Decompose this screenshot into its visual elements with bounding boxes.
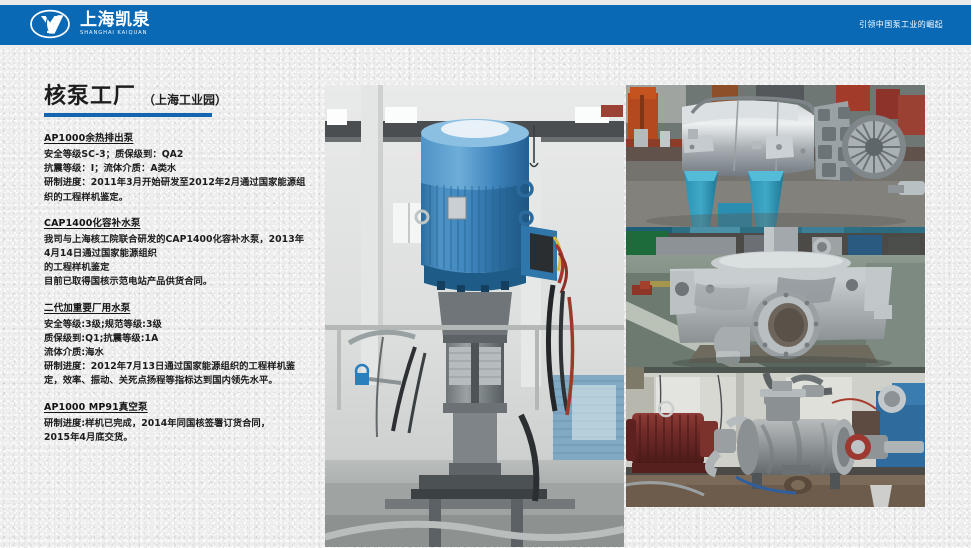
section-line: 流体介质:海水	[44, 346, 312, 360]
section-heading: AP1000余热排出泵	[44, 131, 312, 146]
section-line: 2015年4月底交货。	[44, 431, 312, 445]
section-heading: CAP1400化容补水泵	[44, 216, 312, 231]
section-line: 织的工程样机鉴定。	[44, 191, 312, 205]
header-slogan: 引领中国泵工业的崛起	[859, 19, 943, 30]
section-ap1000-rhr: AP1000余热排出泵 安全等级SC-3；质保级到：QA2 抗震等级：Ⅰ；流体介…	[44, 131, 312, 205]
page-title: 核泵工厂 （上海工业园）	[44, 85, 304, 117]
cast-pump-volute-photo	[626, 227, 925, 367]
section-cap1400-cvcs: CAP1400化容补水泵 我司与上海核工院联合研发的CAP1400化容补水泵，2…	[44, 216, 312, 290]
page-title-sub: （上海工业园）	[143, 91, 227, 109]
slide-content: 核泵工厂 （上海工业园） AP1000余热排出泵 安全等级SC-3；质保级到：Q…	[0, 45, 971, 548]
logo-text-cn: 上海凯泉	[80, 11, 150, 29]
section-line: 研制进度：2011年3月开始研发至2012年2月通过国家能源组	[44, 176, 312, 190]
right-photo-column	[626, 85, 925, 507]
pump-test-bench-photo	[626, 367, 925, 507]
section-heading: 二代加重要厂用水泵	[44, 301, 312, 316]
section-line: 研制进度:样机已完成，2014年同国核签署订货合同，	[44, 417, 312, 431]
section-line: 目前已取得国核示范电站产品供货合同。	[44, 275, 312, 289]
spec-sections: AP1000余热排出泵 安全等级SC-3；质保级到：QA2 抗震等级：Ⅰ；流体介…	[44, 131, 312, 456]
section-gen2-service-water: 二代加重要厂用水泵 安全等级:3级;规范等级:3级 质保级到:Q1;抗震等级:1…	[44, 301, 312, 389]
section-line: 研制进度：2012年7月13日通过国家能源组织的工程样机鉴	[44, 360, 312, 374]
logo-text-en: SHANGHAI KAIQUAN	[80, 29, 150, 37]
section-line: 质保级到:Q1;抗震等级:1A	[44, 332, 312, 346]
vertical-nuclear-pump-motor-photo	[325, 85, 624, 547]
section-ap1000-mp91-vacuum: AP1000 MP91真空泵 研制进度:样机已完成，2014年同国核签署订货合同…	[44, 400, 312, 445]
section-line: 的工程样机鉴定	[44, 261, 312, 275]
title-underline-rule	[44, 113, 212, 117]
section-line: 4月14日通过国家能源组织	[44, 247, 312, 261]
section-line: 定，效率、振动、关死点扬程等指标达到国内领先水平。	[44, 374, 312, 388]
section-line: 抗震等级：Ⅰ；流体介质：A类水	[44, 162, 312, 176]
horizontal-pump-casing-photo	[626, 85, 925, 227]
section-line: 我司与上海核工院联合研发的CAP1400化容补水泵，2013年	[44, 233, 312, 247]
page-title-main: 核泵工厂	[44, 85, 136, 109]
section-line: 安全等级SC-3；质保级到：QA2	[44, 148, 312, 162]
kaiquan-logo-icon	[27, 9, 73, 39]
section-line: 安全等级:3级;规范等级:3级	[44, 318, 312, 332]
slide-top-margin	[0, 0, 971, 5]
brand-logo[interactable]: 上海凯泉 SHANGHAI KAIQUAN	[27, 9, 150, 39]
section-heading: AP1000 MP91真空泵	[44, 400, 312, 415]
